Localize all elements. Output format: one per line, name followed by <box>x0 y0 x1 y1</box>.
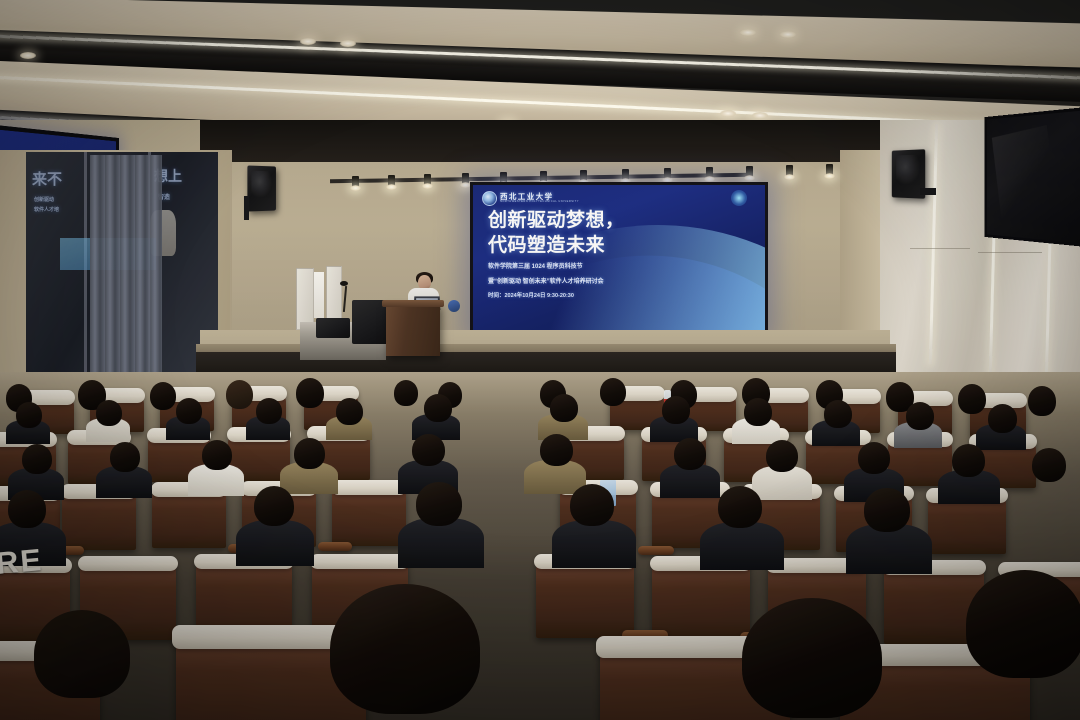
ceiling-downlight <box>752 112 768 119</box>
audience-head <box>294 438 325 469</box>
speaker-mount-left <box>244 196 249 220</box>
slide-logo-row: 西北工业大学 NORTHWESTERN POLYTECHNICAL UNIVER… <box>482 191 757 206</box>
audience-head <box>394 380 418 406</box>
track-spotlight <box>424 174 431 185</box>
seat-armrest <box>638 546 674 555</box>
seat[interactable] <box>152 492 226 548</box>
audience-head <box>1032 448 1066 482</box>
slide-subtitle-line2: 暨“创新驱动 智创未来”软件人才培养研讨会 <box>488 278 757 287</box>
audience-shoulders <box>700 522 784 570</box>
audience-head <box>1028 386 1056 416</box>
audience-head <box>416 482 462 526</box>
track-spotlight <box>826 164 833 175</box>
institution-name-en: NORTHWESTERN POLYTECHNICAL UNIVERSITY <box>500 201 579 204</box>
slide-title-line2: 代码塑造未来 <box>488 235 757 256</box>
track-spotlight <box>352 176 359 187</box>
slide-subtitle-line1: 软件学院第三届 1024 程序员科技节 <box>488 263 757 272</box>
audience-head <box>570 484 614 526</box>
seat[interactable] <box>332 490 406 546</box>
audience-head <box>16 402 42 428</box>
microphone-icon <box>340 281 348 286</box>
audience-head-foreground <box>742 598 882 718</box>
ceiling-downlight <box>740 29 756 36</box>
side-monitor-right[interactable] <box>985 106 1080 248</box>
audience-shoulders <box>552 520 636 568</box>
audience-head <box>858 442 890 474</box>
track-spotlight <box>388 175 395 186</box>
audience-head <box>744 398 772 426</box>
seat[interactable] <box>928 498 1006 554</box>
audience-head <box>226 380 253 409</box>
audience-head <box>176 398 202 424</box>
audience-head <box>412 434 445 466</box>
wall-speaker-left <box>247 165 276 211</box>
ceiling-downlight <box>300 38 316 45</box>
jacket-text: RE <box>0 542 45 582</box>
audience-head <box>550 394 578 422</box>
track-spotlight <box>746 166 753 177</box>
ceiling-downlight <box>20 52 36 59</box>
wall-panel-seam <box>910 248 970 249</box>
audience-head <box>864 488 910 532</box>
lectern-top <box>382 300 444 307</box>
audience-head-foreground <box>34 610 130 698</box>
audience-head <box>202 440 232 470</box>
audience-head-foreground <box>330 584 480 714</box>
audience-head <box>824 400 852 428</box>
seat[interactable] <box>536 564 634 638</box>
slide-time-line: 时间：2024年10月24日 9:30-20:30 <box>488 291 757 299</box>
slide-title-line1: 创新驱动梦想， <box>488 210 757 231</box>
audience-head-foreground <box>966 570 1080 678</box>
audience-head <box>906 402 934 430</box>
glass-reflection-text: 创新驱动 <box>34 196 54 203</box>
glass-reflection-text: 软件人才培 <box>34 206 59 213</box>
track-spotlight <box>786 165 793 176</box>
seat[interactable] <box>652 566 750 640</box>
wall-panel-seam <box>978 252 1042 253</box>
auditorium-photo: 西北工业大学 NORTHWESTERN POLYTECHNICAL UNIVER… <box>0 0 1080 720</box>
ceiling-downlight <box>340 40 356 47</box>
audience-head <box>674 438 706 470</box>
slide-canvas: 西北工业大学 NORTHWESTERN POLYTECHNICAL UNIVER… <box>473 185 765 335</box>
main-presentation-screen[interactable]: 西北工业大学 NORTHWESTERN POLYTECHNICAL UNIVER… <box>470 182 768 338</box>
audience-head <box>988 404 1017 433</box>
glass-reflection-text: 来不 <box>32 168 62 189</box>
audience-shoulders <box>236 520 314 566</box>
audience-head <box>718 486 762 528</box>
lectern <box>386 304 440 356</box>
audience-area: RE <box>0 372 1080 720</box>
wall-cabinet-panel <box>296 268 314 330</box>
track-spotlight <box>540 171 547 182</box>
audience-head <box>8 490 46 528</box>
audience-head <box>540 434 573 466</box>
track-spotlight <box>462 173 469 184</box>
audience-head <box>600 378 626 406</box>
audience-head <box>336 398 363 425</box>
track-spotlight <box>664 168 671 179</box>
audience-head <box>254 486 294 526</box>
audience-head <box>110 442 140 472</box>
ceiling-downlight <box>720 110 736 117</box>
audience-head <box>952 444 985 477</box>
audience-head <box>766 440 798 472</box>
seat[interactable] <box>62 494 136 550</box>
ceiling-downlight <box>780 31 796 38</box>
stage-soffit <box>200 120 900 162</box>
seat-armrest <box>318 542 352 551</box>
audience-head <box>662 396 690 424</box>
track-spotlight <box>580 170 587 181</box>
audience-head <box>958 384 986 414</box>
nwpu-emblem-icon <box>482 191 497 206</box>
stage-prop-object <box>448 300 460 312</box>
av-equipment-case <box>316 318 350 338</box>
audience-head <box>150 382 176 410</box>
audience-head <box>256 398 282 424</box>
wall-notice-poster <box>314 272 324 318</box>
track-spotlight <box>622 169 629 180</box>
speaker-mount-right <box>920 188 936 195</box>
wall-led-strip <box>929 124 938 364</box>
audience-head <box>22 444 52 474</box>
audience-head <box>96 400 122 426</box>
audience-head <box>296 378 324 408</box>
audience-head <box>424 394 452 422</box>
slide-content: 西北工业大学 NORTHWESTERN POLYTECHNICAL UNIVER… <box>482 191 757 299</box>
track-spotlight <box>706 167 713 178</box>
